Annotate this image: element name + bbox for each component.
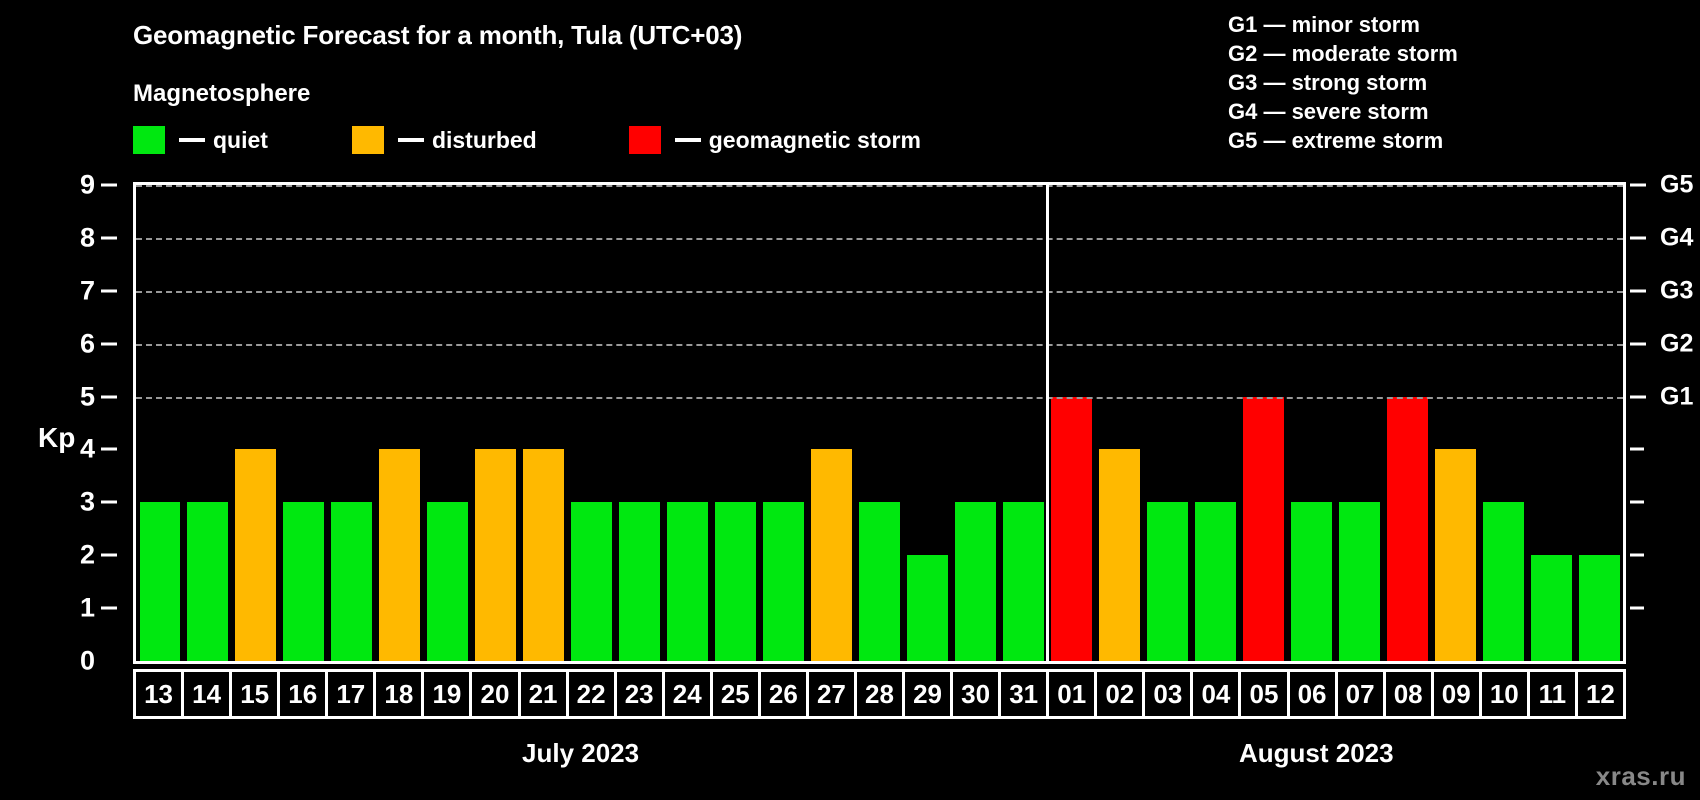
- bar-slot-15[interactable]: [232, 185, 280, 661]
- legend-item-geomagnetic-storm: geomagnetic storm: [629, 126, 921, 154]
- g-tick-mark-G5: [1630, 184, 1646, 187]
- bar-13[interactable]: [140, 502, 181, 661]
- y-tick-mark-3: [101, 501, 117, 504]
- month-divider: [1046, 185, 1049, 661]
- bar-26[interactable]: [763, 502, 804, 661]
- bar-series: [136, 185, 1623, 661]
- month-caption-july: July 2023: [522, 738, 639, 769]
- bar-slot-03[interactable]: [1143, 185, 1191, 661]
- watermark: xras.ru: [1596, 761, 1686, 792]
- red-square-icon: [629, 126, 661, 154]
- g-tick-label-G5: G5: [1660, 171, 1693, 200]
- gridline-kp-7: [136, 291, 1623, 293]
- green-square-icon: [133, 126, 165, 154]
- legend-dash-icon: [398, 138, 424, 142]
- bar-29[interactable]: [907, 555, 948, 661]
- month-caption-august: August 2023: [1239, 738, 1394, 769]
- y-tick-label-6: 6: [80, 328, 95, 359]
- day-label-27[interactable]: 27: [809, 672, 857, 716]
- day-label-01[interactable]: 01: [1049, 672, 1097, 716]
- bar-15[interactable]: [235, 449, 276, 661]
- y-tick-mark-1: [101, 607, 117, 610]
- y-axis-title: Kp: [38, 422, 75, 454]
- y-tick-mark-4: [101, 448, 117, 451]
- g-tick-mark-G3: [1630, 289, 1646, 292]
- bar-slot-25[interactable]: [712, 185, 760, 661]
- day-label-10[interactable]: 10: [1482, 672, 1530, 716]
- y-tick-label-3: 3: [80, 487, 95, 518]
- bar-17[interactable]: [331, 502, 372, 661]
- bar-slot-13[interactable]: [136, 185, 184, 661]
- bar-slot-02[interactable]: [1095, 185, 1143, 661]
- day-label-14[interactable]: 14: [184, 672, 232, 716]
- y-tick-label-7: 7: [80, 275, 95, 306]
- bar-slot-12[interactable]: [1575, 185, 1623, 661]
- day-axis: 1314151617181920212223242526272829303101…: [133, 669, 1626, 719]
- day-label-24[interactable]: 24: [665, 672, 713, 716]
- bar-14[interactable]: [187, 502, 228, 661]
- g-axis: G1G2G3G4G5: [1626, 182, 1700, 664]
- plot-area: [133, 182, 1626, 664]
- bar-slot-16[interactable]: [280, 185, 328, 661]
- page-title: Geomagnetic Forecast for a month, Tula (…: [133, 20, 742, 51]
- bar-06[interactable]: [1291, 502, 1332, 661]
- day-label-17[interactable]: 17: [328, 672, 376, 716]
- day-label-16[interactable]: 16: [280, 672, 328, 716]
- bar-01[interactable]: [1051, 397, 1092, 661]
- day-label-30[interactable]: 30: [953, 672, 1001, 716]
- y-tick-mark-2: [101, 554, 117, 557]
- y-tick-mark-9: [101, 184, 117, 187]
- bar-slot-30[interactable]: [951, 185, 999, 661]
- bar-03[interactable]: [1147, 502, 1188, 661]
- g-tick-label-G1: G1: [1660, 382, 1693, 411]
- day-label-02[interactable]: 02: [1097, 672, 1145, 716]
- bar-slot-17[interactable]: [328, 185, 376, 661]
- g-tick-label-G2: G2: [1660, 329, 1693, 358]
- bar-19[interactable]: [427, 502, 468, 661]
- bar-slot-28[interactable]: [856, 185, 904, 661]
- bar-08[interactable]: [1387, 397, 1428, 661]
- day-label-20[interactable]: 20: [472, 672, 520, 716]
- legend-dash-icon: [675, 138, 701, 142]
- legend-item-disturbed: disturbed: [352, 126, 537, 154]
- y-tick-label-2: 2: [80, 540, 95, 571]
- bar-20[interactable]: [475, 449, 516, 661]
- bar-25[interactable]: [715, 502, 756, 661]
- bar-slot-20[interactable]: [472, 185, 520, 661]
- y-tick-label-4: 4: [80, 434, 95, 465]
- bar-23[interactable]: [619, 502, 660, 661]
- y-tick-label-8: 8: [80, 222, 95, 253]
- y-tick-mark-7: [101, 289, 117, 292]
- orange-square-icon: [352, 126, 384, 154]
- bar-slot-01[interactable]: [1047, 185, 1095, 661]
- bar-22[interactable]: [571, 502, 612, 661]
- g-tick-mark-G4: [1630, 236, 1646, 239]
- gridline-kp-9: [136, 185, 1623, 187]
- g-scale-line-1: G1 — minor storm: [1228, 10, 1458, 39]
- g-tick-minor-4: [1630, 448, 1644, 451]
- bar-slot-08[interactable]: [1383, 185, 1431, 661]
- y-tick-mark-5: [101, 395, 117, 398]
- day-label-11[interactable]: 11: [1530, 672, 1578, 716]
- bar-12[interactable]: [1579, 555, 1620, 661]
- day-label-13[interactable]: 13: [136, 672, 184, 716]
- day-label-12[interactable]: 12: [1578, 672, 1623, 716]
- day-label-04[interactable]: 04: [1193, 672, 1241, 716]
- y-tick-label-1: 1: [80, 593, 95, 624]
- g-tick-mark-G1: [1630, 395, 1646, 398]
- magnetosphere-label: Magnetosphere: [133, 80, 310, 108]
- bar-slot-24[interactable]: [664, 185, 712, 661]
- day-label-08[interactable]: 08: [1386, 672, 1434, 716]
- bar-27[interactable]: [811, 449, 852, 661]
- bar-04[interactable]: [1195, 502, 1236, 661]
- bar-09[interactable]: [1435, 449, 1476, 661]
- legend-label: quiet: [213, 127, 268, 154]
- bar-07[interactable]: [1339, 502, 1380, 661]
- y-tick-mark-6: [101, 342, 117, 345]
- day-label-06[interactable]: 06: [1290, 672, 1338, 716]
- gridline-kp-6: [136, 344, 1623, 346]
- bar-slot-19[interactable]: [424, 185, 472, 661]
- legend-item-quiet: quiet: [133, 126, 268, 154]
- day-label-07[interactable]: 07: [1338, 672, 1386, 716]
- bar-slot-26[interactable]: [760, 185, 808, 661]
- day-label-21[interactable]: 21: [521, 672, 569, 716]
- g-tick-label-G3: G3: [1660, 276, 1693, 305]
- bar-slot-29[interactable]: [904, 185, 952, 661]
- g-scale-legend: G1 — minor stormG2 — moderate stormG3 — …: [1228, 10, 1458, 155]
- day-label-05[interactable]: 05: [1241, 672, 1289, 716]
- day-label-18[interactable]: 18: [376, 672, 424, 716]
- bar-slot-05[interactable]: [1239, 185, 1287, 661]
- gridline-kp-5: [136, 397, 1623, 399]
- bar-11[interactable]: [1531, 555, 1572, 661]
- bar-slot-22[interactable]: [568, 185, 616, 661]
- g-scale-line-2: G2 — moderate storm: [1228, 39, 1458, 68]
- g-tick-mark-G2: [1630, 342, 1646, 345]
- day-label-22[interactable]: 22: [569, 672, 617, 716]
- legend: quietdisturbedgeomagnetic storm: [133, 125, 921, 155]
- bar-16[interactable]: [283, 502, 324, 661]
- day-label-19[interactable]: 19: [424, 672, 472, 716]
- bar-18[interactable]: [379, 449, 420, 661]
- day-label-31[interactable]: 31: [1001, 672, 1049, 716]
- bar-slot-23[interactable]: [616, 185, 664, 661]
- y-tick-label-5: 5: [80, 381, 95, 412]
- day-label-28[interactable]: 28: [857, 672, 905, 716]
- g-scale-line-3: G3 — strong storm: [1228, 68, 1458, 97]
- day-label-26[interactable]: 26: [761, 672, 809, 716]
- bar-slot-04[interactable]: [1191, 185, 1239, 661]
- bar-24[interactable]: [667, 502, 708, 661]
- gridline-kp-8: [136, 238, 1623, 240]
- bar-30[interactable]: [955, 502, 996, 661]
- g-tick-label-G4: G4: [1660, 223, 1693, 252]
- bar-slot-21[interactable]: [520, 185, 568, 661]
- y-tick-mark-8: [101, 236, 117, 239]
- y-tick-label-0: 0: [80, 646, 95, 677]
- bar-10[interactable]: [1483, 502, 1524, 661]
- g-tick-minor-1: [1630, 607, 1644, 610]
- bar-slot-27[interactable]: [808, 185, 856, 661]
- g-tick-minor-2: [1630, 554, 1644, 557]
- bar-slot-31[interactable]: [999, 185, 1047, 661]
- bar-28[interactable]: [859, 502, 900, 661]
- g-scale-line-5: G5 — extreme storm: [1228, 126, 1458, 155]
- bar-slot-11[interactable]: [1527, 185, 1575, 661]
- bar-slot-07[interactable]: [1335, 185, 1383, 661]
- bar-slot-09[interactable]: [1431, 185, 1479, 661]
- day-label-09[interactable]: 09: [1434, 672, 1482, 716]
- day-label-25[interactable]: 25: [713, 672, 761, 716]
- bar-slot-18[interactable]: [376, 185, 424, 661]
- bar-05[interactable]: [1243, 397, 1284, 661]
- bar-02[interactable]: [1099, 449, 1140, 661]
- day-label-03[interactable]: 03: [1145, 672, 1193, 716]
- bar-slot-10[interactable]: [1479, 185, 1527, 661]
- g-scale-line-4: G4 — severe storm: [1228, 97, 1458, 126]
- day-label-15[interactable]: 15: [232, 672, 280, 716]
- day-label-29[interactable]: 29: [905, 672, 953, 716]
- legend-label: geomagnetic storm: [709, 127, 921, 154]
- legend-label: disturbed: [432, 127, 537, 154]
- day-label-23[interactable]: 23: [617, 672, 665, 716]
- g-tick-minor-3: [1630, 501, 1644, 504]
- y-tick-label-9: 9: [80, 170, 95, 201]
- bar-slot-14[interactable]: [184, 185, 232, 661]
- bar-31[interactable]: [1003, 502, 1044, 661]
- bar-21[interactable]: [523, 449, 564, 661]
- chart-root: Geomagnetic Forecast for a month, Tula (…: [0, 0, 1700, 800]
- legend-dash-icon: [179, 138, 205, 142]
- bar-slot-06[interactable]: [1287, 185, 1335, 661]
